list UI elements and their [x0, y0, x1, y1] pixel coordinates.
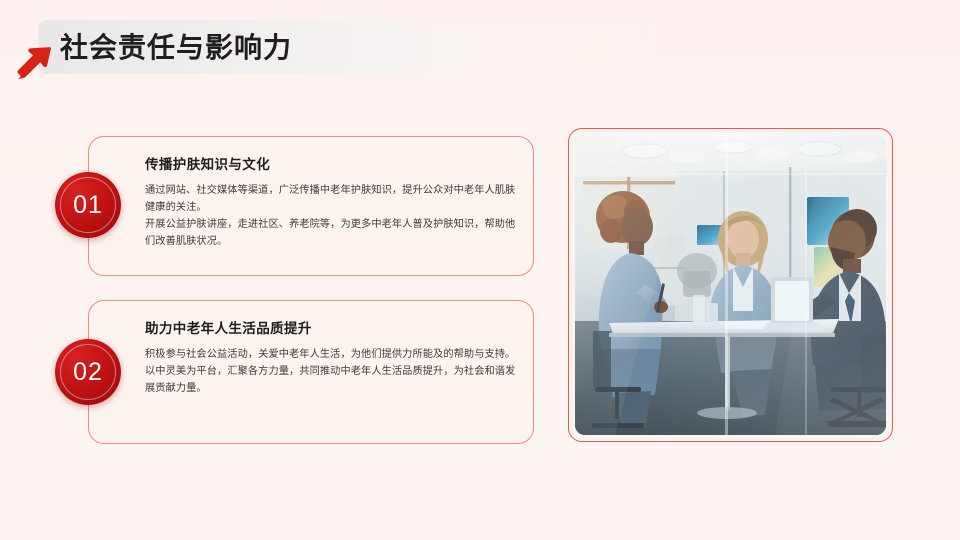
card-body: 助力中老年人生活品质提升 积极参与社会公益活动，关爱中老年人生活，为他们提供力所…	[145, 317, 517, 397]
content-card-01: 传播护肤知识与文化 通过网站、社交媒体等渠道，广泛传播中老年护肤知识，提升公众对…	[88, 136, 534, 276]
card-paragraph: 开展公益护肤讲座，走进社区、养老院等，为更多中老年人普及护肤知识，帮助他们改善肌…	[145, 216, 517, 250]
card-text: 积极参与社会公益活动，关爱中老年人生活，为他们提供力所能及的帮助与支持。 以中灵…	[145, 346, 517, 397]
slide-root: 社会责任与影响力 传播护肤知识与文化 通过网站、社交媒体等渠道，广泛传播中老年护…	[0, 0, 960, 540]
content-card-02: 助力中老年人生活品质提升 积极参与社会公益活动，关爱中老年人生活，为他们提供力所…	[88, 300, 534, 444]
slide-header: 社会责任与影响力	[0, 16, 960, 80]
card-paragraph: 通过网站、社交媒体等渠道，广泛传播中老年护肤知识，提升公众对中老年人肌肤健康的关…	[145, 182, 517, 216]
card-paragraph: 以中灵美为平台，汇聚各方力量，共同推动中老年人生活品质提升，为社会和谐发展贡献力…	[145, 363, 517, 397]
card-number-label: 02	[55, 339, 121, 405]
arrow-up-right-icon	[8, 38, 58, 88]
card-body: 传播护肤知识与文化 通过网站、社交媒体等渠道，广泛传播中老年护肤知识，提升公众对…	[145, 153, 517, 250]
card-number-badge-01: 01	[55, 172, 121, 238]
page-title: 社会责任与影响力	[60, 28, 292, 68]
card-number-label: 01	[55, 172, 121, 238]
photo-frame	[568, 128, 893, 442]
card-number-badge-02: 02	[55, 339, 121, 405]
card-paragraph: 积极参与社会公益活动，关爱中老年人生活，为他们提供力所能及的帮助与支持。	[145, 346, 517, 363]
card-text: 通过网站、社交媒体等渠道，广泛传播中老年护肤知识，提升公众对中老年人肌肤健康的关…	[145, 182, 517, 250]
business-meeting-photo	[575, 135, 886, 435]
card-title: 传播护肤知识与文化	[145, 153, 517, 173]
card-title: 助力中老年人生活品质提升	[145, 317, 517, 337]
